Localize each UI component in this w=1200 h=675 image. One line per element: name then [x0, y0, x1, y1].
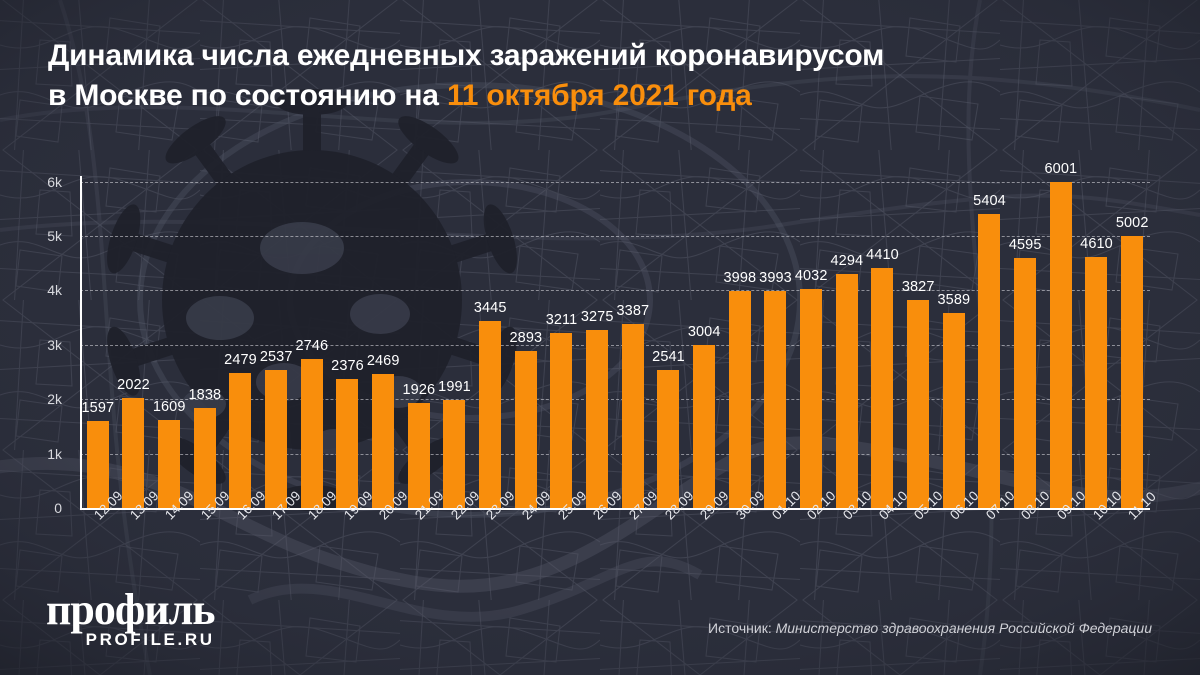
source-value: Министерство здравоохранения Российской …	[776, 620, 1152, 636]
bar-value-label: 2479	[224, 352, 257, 368]
bar[interactable]	[729, 291, 751, 508]
bar-value-label: 2376	[331, 358, 364, 374]
bar[interactable]	[693, 345, 715, 508]
logo-wordmark: профиль	[46, 588, 215, 632]
profile-logo: профиль PROFILE.RU	[46, 588, 215, 650]
bar[interactable]	[657, 370, 679, 508]
bar[interactable]	[515, 351, 537, 508]
bar-value-label: 1991	[438, 379, 471, 395]
bar-value-label: 2469	[367, 353, 400, 369]
bar-value-label: 1838	[188, 387, 221, 403]
bar[interactable]	[1085, 257, 1107, 508]
bar[interactable]	[800, 289, 822, 508]
bar-value-label: 5002	[1116, 215, 1149, 231]
bar-value-label: 3004	[688, 324, 721, 340]
y-axis-tick-label: 6k	[28, 174, 62, 190]
bar[interactable]	[943, 313, 965, 508]
bar[interactable]	[194, 408, 216, 508]
source-note: Источник: Министерство здравоохранения Р…	[708, 620, 1152, 636]
bar-value-label: 4410	[866, 247, 899, 263]
bar-value-label: 4595	[1009, 237, 1042, 253]
bar-value-label: 3445	[474, 300, 507, 316]
bar[interactable]	[87, 421, 109, 508]
bar[interactable]	[443, 400, 465, 508]
page-title: Динамика числа ежедневных заражений коро…	[48, 36, 1168, 116]
bar[interactable]	[408, 403, 430, 508]
y-axis-tick-label: 2k	[28, 391, 62, 407]
bar-value-label: 2893	[509, 330, 542, 346]
title-line-2-prefix: в Москве по состоянию на	[48, 79, 447, 112]
source-label: Источник:	[708, 620, 772, 636]
bar[interactable]	[1014, 258, 1036, 508]
bar-value-label: 6001	[1044, 161, 1077, 177]
bar-value-label: 3998	[723, 270, 756, 286]
bar-value-label: 1926	[402, 382, 435, 398]
bar[interactable]	[158, 420, 180, 508]
bar-value-label: 3275	[581, 309, 614, 325]
bar-value-label: 3589	[937, 292, 970, 308]
bar-value-label: 3827	[902, 279, 935, 295]
y-axis-tick-label: 0	[28, 500, 62, 516]
bar[interactable]	[336, 379, 358, 508]
title-line-1: Динамика числа ежедневных заражений коро…	[48, 36, 1168, 76]
bar-value-label: 1597	[81, 400, 114, 416]
bar[interactable]	[586, 330, 608, 508]
bar-value-label: 4610	[1080, 236, 1113, 252]
y-axis-tick-label: 4k	[28, 282, 62, 298]
y-axis-tick-label: 1k	[28, 446, 62, 462]
bar[interactable]	[479, 321, 501, 508]
bar[interactable]	[550, 333, 572, 508]
bar[interactable]	[1121, 236, 1143, 508]
bar-value-label: 2537	[260, 349, 293, 365]
bar[interactable]	[978, 214, 1000, 508]
bar[interactable]	[372, 374, 394, 508]
bar[interactable]	[622, 324, 644, 508]
bar-value-label: 2746	[295, 338, 328, 354]
bar-value-label: 3993	[759, 270, 792, 286]
bar-value-label: 3387	[616, 303, 649, 319]
bar[interactable]	[229, 373, 251, 508]
bar-value-label: 1609	[153, 399, 186, 415]
bar-value-label: 3211	[546, 312, 578, 328]
bar-value-label: 4294	[830, 253, 863, 269]
title-line-2: в Москве по состоянию на 11 октября 2021…	[48, 76, 1168, 116]
bar-value-label: 5404	[973, 193, 1006, 209]
bar[interactable]	[871, 268, 893, 508]
bar[interactable]	[122, 398, 144, 508]
y-axis-tick-label: 5k	[28, 228, 62, 244]
bar[interactable]	[764, 291, 786, 508]
title-date-accent: 11 октября 2021 года	[447, 79, 752, 112]
bar[interactable]	[907, 300, 929, 508]
bar-value-label: 2541	[652, 349, 685, 365]
bar-value-label: 2022	[117, 377, 150, 393]
y-axis-tick-label: 3k	[28, 337, 62, 353]
bar[interactable]	[265, 370, 287, 508]
bar[interactable]	[836, 274, 858, 508]
bar[interactable]	[301, 359, 323, 508]
bar-value-label: 4032	[795, 268, 828, 284]
bar[interactable]	[1050, 182, 1072, 508]
